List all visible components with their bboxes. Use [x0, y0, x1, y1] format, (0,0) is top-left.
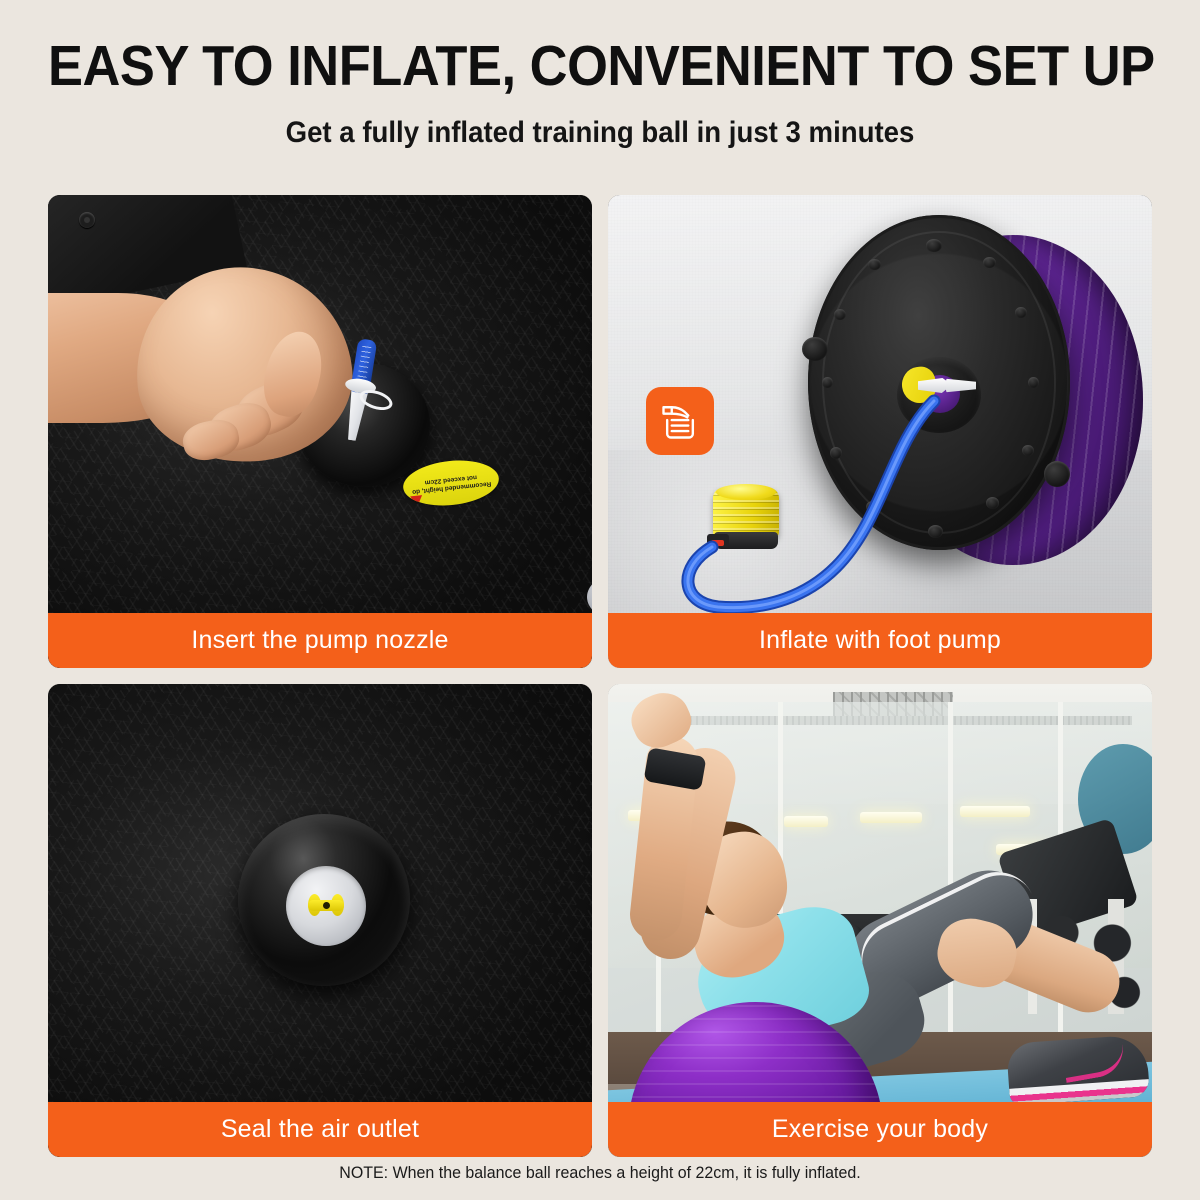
- panel-inflate-foot-pump: Inflate with foot pump: [608, 195, 1152, 668]
- panel-insert-nozzle: Recommended height, do not exceed 22cm I…: [48, 195, 592, 668]
- hand: [48, 245, 378, 480]
- page-title: EASY TO INFLATE, CONVENIENT TO SET UP: [48, 38, 1152, 95]
- caption-insert-nozzle: Insert the pump nozzle: [48, 613, 592, 668]
- disc-side-knob: [1044, 461, 1070, 487]
- foot-pump-icon: [646, 387, 714, 455]
- pump-top-plate: [716, 484, 776, 500]
- running-shoe: [1006, 1034, 1150, 1106]
- pump-nozzle-inserted: [918, 371, 976, 401]
- disc-side-knob: [802, 337, 828, 361]
- yellow-valve-knob: [308, 893, 344, 917]
- photo-inflate-foot-pump: [608, 195, 1152, 668]
- photo-seal-air-outlet: [48, 684, 592, 1157]
- disc-screw: [986, 497, 999, 509]
- panel-exercise-your-body: Exercise your body: [608, 684, 1152, 1157]
- disc-screw: [928, 525, 943, 538]
- base-bolt: [79, 212, 95, 228]
- disc-screw: [866, 501, 879, 513]
- disc-screw: [926, 239, 942, 252]
- disc-screw: [1022, 445, 1034, 456]
- valve-cap: [286, 866, 366, 946]
- foot-pump-glyph: [658, 399, 702, 443]
- infographic-header: EASY TO INFLATE, CONVENIENT TO SET UP Ge…: [0, 0, 1200, 150]
- balance-ball-base-disc: [808, 215, 1070, 550]
- nozzle-connector: [946, 377, 976, 394]
- pump-release-tab: [711, 540, 724, 546]
- disc-screw: [822, 377, 833, 388]
- knob-center-hole: [323, 902, 330, 909]
- caption-seal-air-outlet: Seal the air outlet: [48, 1102, 592, 1157]
- foot-pump: [713, 488, 779, 552]
- photo-exercise-your-body: [608, 684, 1152, 1157]
- disc-screw: [868, 259, 881, 270]
- warning-triangle-icon: [410, 495, 423, 507]
- disc-screw: [1028, 377, 1039, 388]
- caption-exercise-your-body: Exercise your body: [608, 1102, 1152, 1157]
- footer-note: NOTE: When the balance ball reaches a he…: [36, 1163, 1164, 1183]
- panel-seal-air-outlet: Seal the air outlet: [48, 684, 592, 1157]
- disc-screw: [1015, 307, 1027, 318]
- valve-recess: [238, 814, 410, 986]
- warning-sticker-text: Recommended height, do not exceed 22cm: [406, 470, 496, 495]
- caption-inflate-foot-pump: Inflate with foot pump: [608, 613, 1152, 668]
- disc-screw: [834, 309, 846, 320]
- disc-screw: [830, 447, 842, 459]
- step-panel-grid: Recommended height, do not exceed 22cm I…: [48, 195, 1152, 1152]
- disc-screw: [983, 257, 996, 268]
- photo-insert-nozzle: Recommended height, do not exceed 22cm: [48, 195, 592, 668]
- page-subtitle: Get a fully inflated training ball in ju…: [48, 116, 1152, 150]
- shoe-stripe: [1061, 1043, 1127, 1083]
